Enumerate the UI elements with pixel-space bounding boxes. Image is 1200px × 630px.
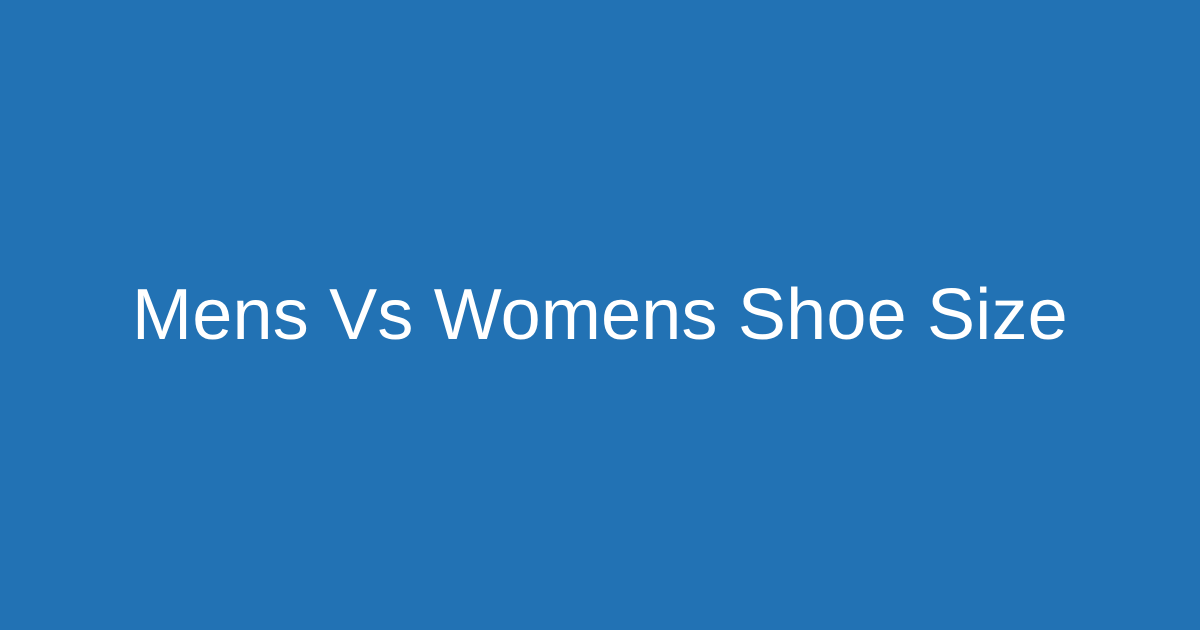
page-title: Mens Vs Womens Shoe Size bbox=[132, 274, 1068, 357]
share-card: Mens Vs Womens Shoe Size bbox=[0, 0, 1200, 630]
